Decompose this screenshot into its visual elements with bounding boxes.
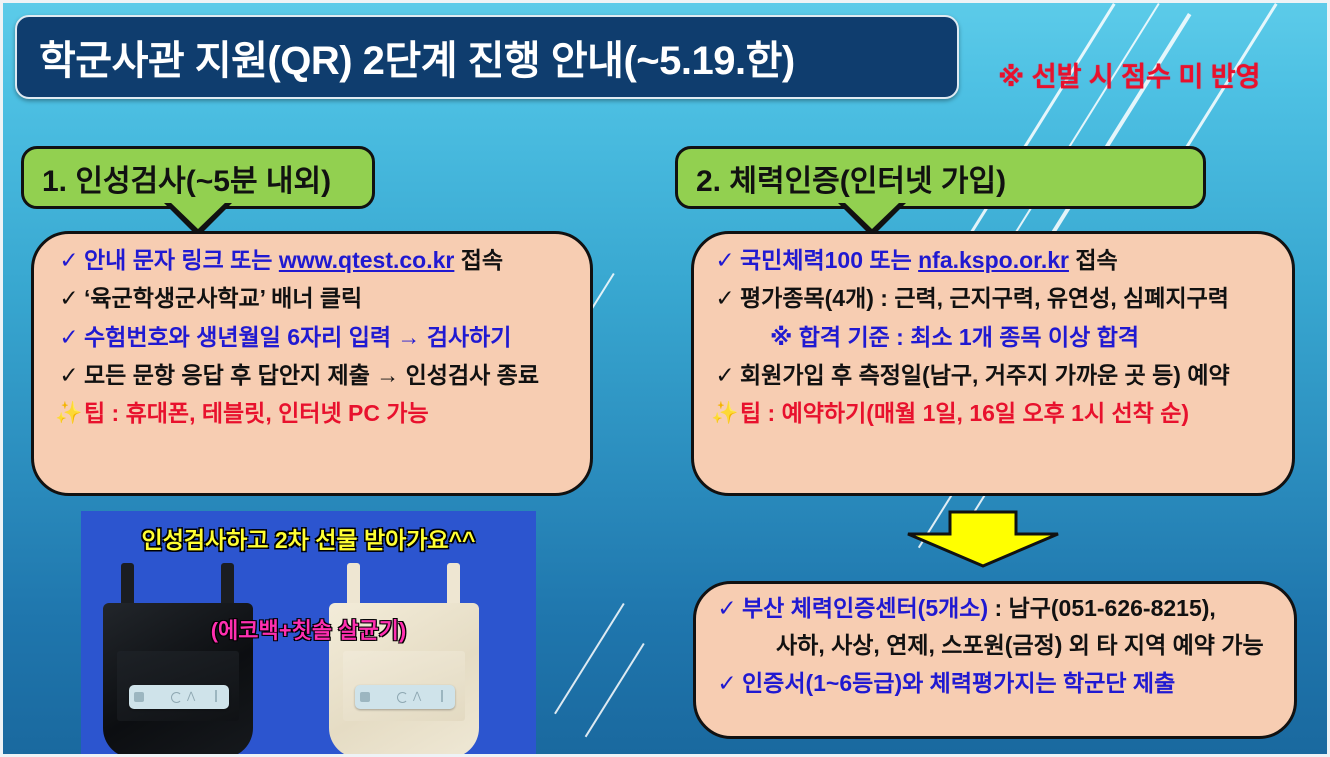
- section-2-heading: 2. 체력인증(인터넷 가입): [678, 156, 1006, 200]
- section-2-bottom-panel: ✓부산 체력인증센터(5개소) : 남구(051-626-8215),사하, 사…: [693, 581, 1297, 739]
- text-run: 팁 : 휴대폰, 테블릿, 인터넷 PC 가능: [84, 400, 429, 426]
- text-run: 모든 문항 응답 후 답안지 제출 → 인성검사 종료: [84, 362, 539, 388]
- section-2-callout: 2. 체력인증(인터넷 가입): [675, 146, 1206, 209]
- tote-bag-cream: ⋀: [329, 563, 479, 757]
- bullet-text: ※ 합격 기준 : 최소 1개 종목 이상 합격: [740, 325, 1139, 350]
- check-icon: ✓: [712, 596, 742, 621]
- slide-title-bar: 학군사관 지원(QR) 2단계 진행 안내(~5.19.한): [15, 15, 959, 99]
- text-run: : 남구(051-626-8215),: [988, 595, 1216, 621]
- bullet-text: 팁 : 예약하기(매월 1일, 16일 오후 1시 선착 순): [740, 401, 1189, 426]
- external-link[interactable]: www.qtest.co.kr: [279, 247, 455, 273]
- sparkles-icon: ✨: [54, 401, 84, 425]
- section-1-panel: ✓안내 문자 링크 또는 www.qtest.co.kr 접속✓‘육군학생군사학…: [31, 231, 593, 496]
- bullet-text: 팁 : 휴대폰, 테블릿, 인터넷 PC 가능: [84, 401, 429, 426]
- bullet-text: 인증서(1~6등급)와 체력평가지는 학군단 제출: [742, 671, 1175, 696]
- page-title: 학군사관 지원(QR) 2단계 진행 안내(~5.19.한): [17, 28, 795, 86]
- bullet-line: ✓‘육군학생군사학교’ 배너 클릭: [54, 286, 584, 311]
- sparkles-icon: ✨: [710, 401, 740, 425]
- bullet-line: ✓안내 문자 링크 또는 www.qtest.co.kr 접속: [54, 248, 584, 273]
- text-run: 평가종목(4개) : 근력, 근지구력, 유연성, 심폐지구력: [740, 285, 1229, 311]
- text-run: 팁 : 예약하기(매월 1일, 16일 오후 1시 선착 순): [740, 400, 1189, 426]
- bullet-text: 국민체력100 또는 nfa.kspo.or.kr 접속: [740, 248, 1118, 273]
- text-run: ‘육군학생군사학교’ 배너 클릭: [84, 285, 362, 311]
- section-1-heading: 1. 인성검사(~5분 내외): [24, 156, 331, 200]
- bullet-line: ※ 합격 기준 : 최소 1개 종목 이상 합격: [710, 325, 1286, 350]
- text-run: ※ 합격 기준 : 최소 1개 종목 이상 합격: [770, 324, 1139, 350]
- check-icon: ✓: [710, 286, 740, 311]
- bullet-line: ✨팁 : 예약하기(매월 1일, 16일 오후 1시 선착 순): [710, 401, 1286, 426]
- sterilizer-device-cream: ⋀: [355, 685, 455, 709]
- text-run: 국민체력100 또는: [740, 247, 918, 273]
- bullet-text: 안내 문자 링크 또는 www.qtest.co.kr 접속: [84, 248, 503, 273]
- gift-photo: ⋀ ⋀ 인성검사하고 2차 선물 받아가요^^ (에코백+칫솔 살균기): [81, 511, 536, 757]
- bullet-text: 사하, 사상, 연제, 스포원(금정) 외 타 지역 예약 가능: [776, 633, 1264, 658]
- bullet-text: 회원가입 후 측정일(남구, 거주지 가까운 곳 등) 예약: [740, 363, 1230, 388]
- photo-headline: 인성검사하고 2차 선물 받아가요^^: [81, 521, 536, 555]
- bullet-text: 평가종목(4개) : 근력, 근지구력, 유연성, 심폐지구력: [740, 286, 1229, 311]
- text-run: 사하, 사상, 연제, 스포원(금정) 외 타 지역 예약 가능: [776, 632, 1264, 658]
- bullet-line: ✓국민체력100 또는 nfa.kspo.or.kr 접속: [710, 248, 1286, 273]
- sterilizer-device-black: ⋀: [129, 685, 229, 709]
- bullet-text: 수험번호와 생년월일 6자리 입력 → 검사하기: [84, 325, 511, 350]
- bullet-text: 부산 체력인증센터(5개소) : 남구(051-626-8215),: [742, 596, 1216, 621]
- bullet-line: ✓모든 문항 응답 후 답안지 제출 → 인성검사 종료: [54, 363, 584, 388]
- down-arrow-icon: [903, 508, 1063, 570]
- bullet-line: ✓회원가입 후 측정일(남구, 거주지 가까운 곳 등) 예약: [710, 363, 1286, 388]
- external-link[interactable]: nfa.kspo.or.kr: [918, 247, 1069, 273]
- text-run: 수험번호와 생년월일 6자리 입력 → 검사하기: [84, 324, 511, 350]
- callout-tail-2-fill: [842, 200, 902, 229]
- check-icon: ✓: [54, 325, 84, 350]
- text-run: 접속: [454, 247, 503, 273]
- check-icon: ✓: [54, 363, 84, 388]
- callout-tail-1-fill: [168, 200, 228, 229]
- check-icon: ✓: [710, 248, 740, 273]
- text-run: 인증서(1~6등급)와 체력평가지는 학군단 제출: [742, 670, 1175, 696]
- bullet-line: ✓부산 체력인증센터(5개소) : 남구(051-626-8215),: [712, 596, 1288, 621]
- bullet-line: ✓인증서(1~6등급)와 체력평가지는 학군단 제출: [712, 671, 1288, 696]
- text-run: 부산 체력인증센터(5개소): [742, 595, 988, 621]
- slide-root: 학군사관 지원(QR) 2단계 진행 안내(~5.19.한) ※ 선발 시 점수…: [0, 0, 1330, 757]
- bullet-line: ✨팁 : 휴대폰, 테블릿, 인터넷 PC 가능: [54, 401, 584, 426]
- photo-caption: (에코백+칫솔 살균기): [81, 613, 536, 645]
- bullet-line: ✓평가종목(4개) : 근력, 근지구력, 유연성, 심폐지구력: [710, 286, 1286, 311]
- text-run: 접속: [1069, 247, 1118, 273]
- bullet-line: ✓수험번호와 생년월일 6자리 입력 → 검사하기: [54, 325, 584, 350]
- check-icon: ✓: [54, 286, 84, 311]
- section-2-panel: ✓국민체력100 또는 nfa.kspo.or.kr 접속✓평가종목(4개) :…: [691, 231, 1295, 496]
- check-icon: ✓: [54, 248, 84, 273]
- text-run: 안내 문자 링크 또는: [84, 247, 279, 273]
- check-icon: ✓: [710, 363, 740, 388]
- section-1-callout: 1. 인성검사(~5분 내외): [21, 146, 375, 209]
- bullet-line: 사하, 사상, 연제, 스포원(금정) 외 타 지역 예약 가능: [746, 633, 1288, 658]
- text-run: 회원가입 후 측정일(남구, 거주지 가까운 곳 등) 예약: [740, 362, 1230, 388]
- score-note: ※ 선발 시 점수 미 반영: [998, 55, 1260, 94]
- check-icon: ✓: [712, 671, 742, 696]
- bullet-text: ‘육군학생군사학교’ 배너 클릭: [84, 286, 362, 311]
- bullet-text: 모든 문항 응답 후 답안지 제출 → 인성검사 종료: [84, 363, 539, 388]
- tote-bag-black: ⋀: [103, 563, 253, 757]
